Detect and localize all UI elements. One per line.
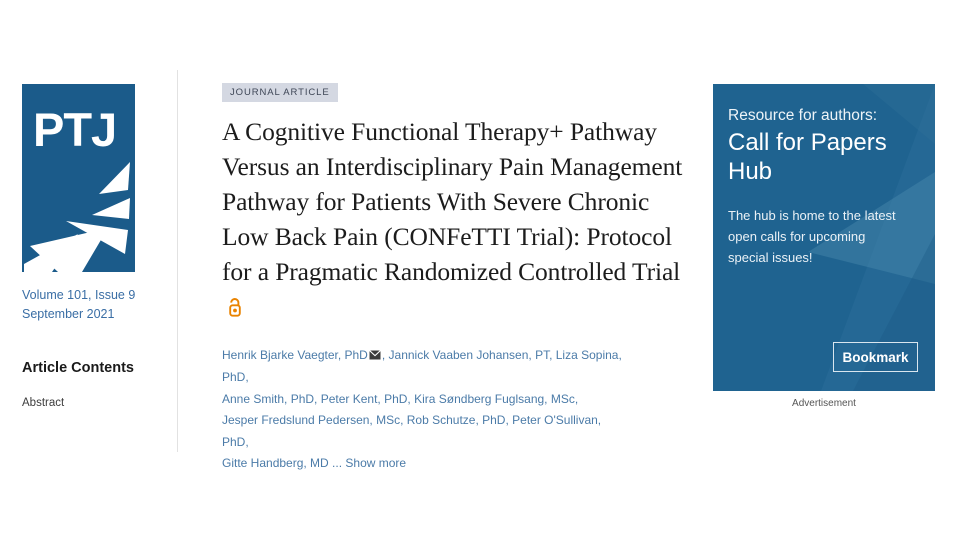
ad-eyebrow-text: Resource for authors:	[728, 105, 923, 126]
ad-body-line-1: The hub is home to the latest	[728, 205, 908, 226]
envelope-icon[interactable]	[369, 346, 381, 368]
sidebar-divider	[177, 70, 178, 452]
ad-headline-line-2: Hub	[728, 157, 923, 186]
article-type-badge: JOURNAL ARTICLE	[222, 83, 338, 102]
call-for-papers-ad-banner[interactable]: Resource for authors: Call for Papers Hu…	[713, 84, 935, 391]
ad-copy: Resource for authors: Call for Papers Hu…	[728, 105, 923, 268]
volume-issue-link[interactable]: Volume 101, Issue 9	[22, 286, 165, 305]
article-title-line-5: Randomized Controlled Trial	[384, 257, 680, 286]
open-access-lock-icon	[227, 293, 244, 328]
article-title: A Cognitive Functional Therapy+ Pathway …	[222, 114, 692, 328]
ad-headline-line-1: Call for Papers	[728, 128, 923, 157]
author-line-4: Gitte Handberg, MD ... Show more	[222, 453, 622, 475]
author-line-3[interactable]: Jesper Fredslund Pedersen, MSc, Rob Schu…	[222, 410, 622, 453]
advertisement-slot: Resource for authors: Call for Papers Hu…	[713, 84, 935, 409]
author-line-2[interactable]: Anne Smith, PhD, Peter Kent, PhD, Kira S…	[222, 389, 622, 411]
ad-body-line-2: open calls for upcoming	[728, 226, 908, 247]
ad-body-line-3: special issues!	[728, 247, 908, 268]
ptj-journal-logo[interactable]: PTJ	[22, 84, 135, 272]
ad-body-text: The hub is home to the latest open calls…	[728, 205, 908, 268]
author-link-vaegter[interactable]: Henrik Bjarke Vaegter, PhD	[222, 348, 368, 362]
issue-info: Volume 101, Issue 9 September 2021	[22, 286, 165, 324]
author-link-handberg[interactable]: Gitte Handberg, MD ...	[222, 456, 345, 470]
bookmark-button[interactable]: Bookmark	[833, 342, 918, 372]
advertisement-caption: Advertisement	[713, 398, 935, 409]
issue-date-link[interactable]: September 2021	[22, 305, 165, 324]
article-sidebar: PTJ Volume 101, Issue 9 September 2021 A…	[22, 84, 165, 412]
ad-headline-text: Call for Papers Hub	[728, 128, 923, 186]
article-page: PTJ Volume 101, Issue 9 September 2021 A…	[0, 0, 960, 540]
article-main-column: JOURNAL ARTICLE A Cognitive Functional T…	[222, 82, 692, 475]
article-contents-heading: Article Contents	[22, 360, 165, 376]
author-line-1: Henrik Bjarke Vaegter, PhD, Jannick Vaab…	[222, 345, 622, 389]
toc-item-abstract[interactable]: Abstract	[22, 394, 165, 412]
ptj-logo-text: PTJ	[33, 106, 116, 153]
author-list: Henrik Bjarke Vaegter, PhD, Jannick Vaab…	[222, 345, 622, 475]
show-more-authors-link[interactable]: Show more	[345, 456, 406, 470]
article-contents-list: Abstract	[22, 394, 165, 412]
